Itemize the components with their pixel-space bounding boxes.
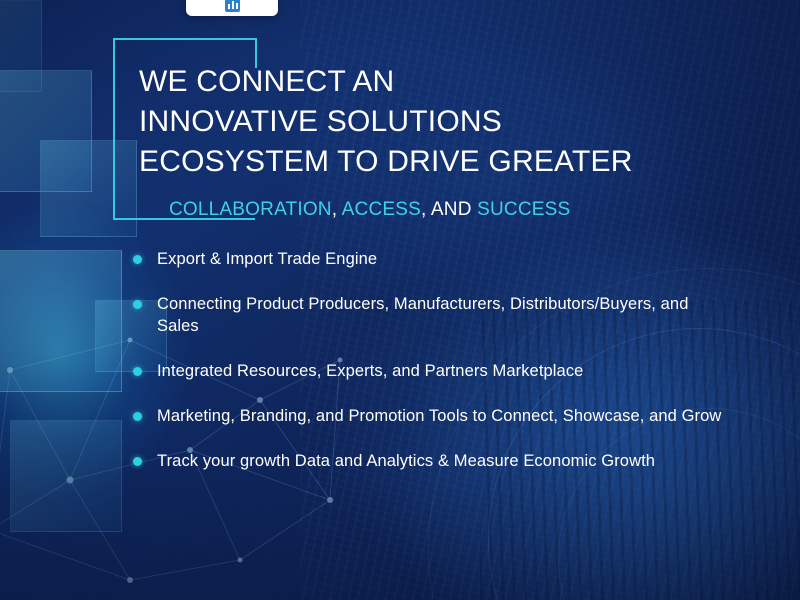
list-item-label: Export & Import Trade Engine — [157, 248, 377, 270]
bullet-dot-icon — [133, 300, 142, 309]
headline: WE CONNECT AN INNOVATIVE SOLUTIONS ECOSY… — [139, 62, 779, 182]
chart-bar-logo-icon — [225, 0, 240, 12]
list-item-label: Track your growth Data and Analytics & M… — [157, 450, 655, 472]
headline-subline: COLLABORATION, ACCESS, AND SUCCESS — [169, 197, 570, 223]
list-item: Marketing, Branding, and Promotion Tools… — [133, 405, 733, 427]
bullet-dot-icon — [133, 255, 142, 264]
bullet-list: Export & Import Trade Engine Connecting … — [133, 248, 733, 495]
bullet-dot-icon — [133, 367, 142, 376]
list-item-label: Integrated Resources, Experts, and Partn… — [157, 360, 583, 382]
subline-separator-2: , AND — [421, 199, 477, 220]
list-item: Export & Import Trade Engine — [133, 248, 733, 270]
subline-collaboration: COLLABORATION — [169, 199, 332, 220]
headline-line-1: WE CONNECT AN — [139, 62, 779, 102]
headline-line-3: ECOSYSTEM TO DRIVE GREATER — [139, 142, 779, 182]
list-item-label: Marketing, Branding, and Promotion Tools… — [157, 405, 721, 427]
subline-success: SUCCESS — [477, 199, 570, 220]
headline-line-2: INNOVATIVE SOLUTIONS — [139, 102, 779, 142]
slide-canvas: WE CONNECT AN INNOVATIVE SOLUTIONS ECOSY… — [0, 0, 800, 600]
list-item-label: Connecting Product Producers, Manufactur… — [157, 293, 733, 337]
list-item: Connecting Product Producers, Manufactur… — [133, 293, 733, 337]
list-item: Integrated Resources, Experts, and Partn… — [133, 360, 733, 382]
bullet-dot-icon — [133, 457, 142, 466]
subline-separator-1: , — [332, 199, 342, 220]
list-item: Track your growth Data and Analytics & M… — [133, 450, 733, 472]
bullet-dot-icon — [133, 412, 142, 421]
subline-access: ACCESS — [342, 199, 421, 220]
logo-chip — [186, 0, 278, 16]
